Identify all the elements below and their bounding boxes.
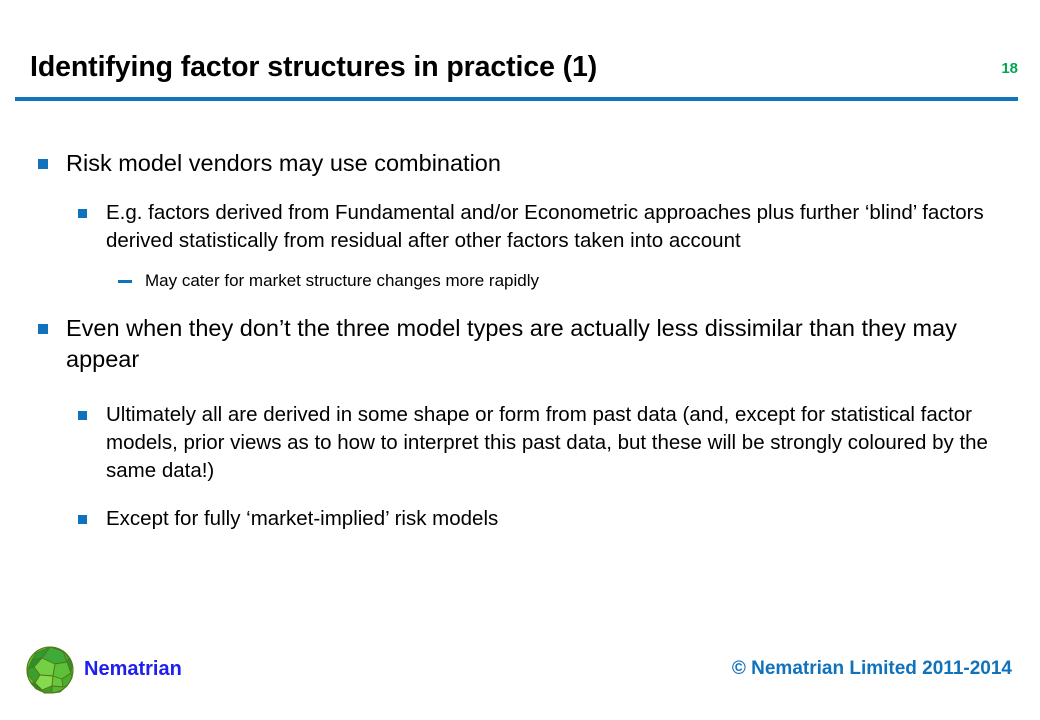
spacer	[0, 485, 1040, 505]
bullet-level2: Ultimately all are derived in some shape…	[0, 401, 1040, 485]
dash-bullet-icon	[118, 280, 132, 283]
page-title: Identifying factor structures in practic…	[30, 48, 597, 86]
bullet-text: Risk model vendors may use combination	[66, 150, 501, 176]
brand-name: Nematrian	[84, 656, 182, 682]
spacer	[0, 179, 1040, 199]
spacer	[0, 293, 1040, 313]
slide-header: Identifying factor structures in practic…	[0, 48, 1040, 94]
square-bullet-icon	[38, 324, 48, 334]
bullet-text: Even when they don’t the three model typ…	[66, 315, 957, 372]
bullet-level2: Except for fully ‘market-implied’ risk m…	[0, 505, 1040, 533]
bullet-text: Except for fully ‘market-implied’ risk m…	[106, 507, 498, 530]
bullet-text: E.g. factors derived from Fundamental an…	[106, 201, 984, 252]
spacer	[0, 375, 1040, 401]
nematrian-polyhedron-logo-icon	[22, 642, 78, 698]
slide-canvas: Identifying factor structures in practic…	[0, 0, 1040, 720]
square-bullet-icon	[78, 209, 87, 218]
square-bullet-icon	[38, 159, 48, 169]
bullet-level3: May cater for market structure changes m…	[0, 269, 1040, 293]
spacer	[0, 255, 1040, 269]
bullet-level1: Risk model vendors may use combination	[0, 148, 1040, 179]
bullet-text: May cater for market structure changes m…	[145, 271, 539, 290]
copyright-notice: © Nematrian Limited 2011-2014	[732, 656, 1012, 682]
slide-footer: Nematrian © Nematrian Limited 2011-2014	[0, 634, 1040, 720]
bullet-text: Ultimately all are derived in some shape…	[106, 403, 988, 482]
title-divider-rule	[15, 97, 1018, 101]
bullet-level1: Even when they don’t the three model typ…	[0, 313, 1040, 375]
square-bullet-icon	[78, 411, 87, 420]
slide-page-number: 18	[1001, 58, 1018, 80]
square-bullet-icon	[78, 515, 87, 524]
bullet-level2: E.g. factors derived from Fundamental an…	[0, 199, 1040, 255]
slide-body: Risk model vendors may use combination E…	[0, 148, 1040, 533]
